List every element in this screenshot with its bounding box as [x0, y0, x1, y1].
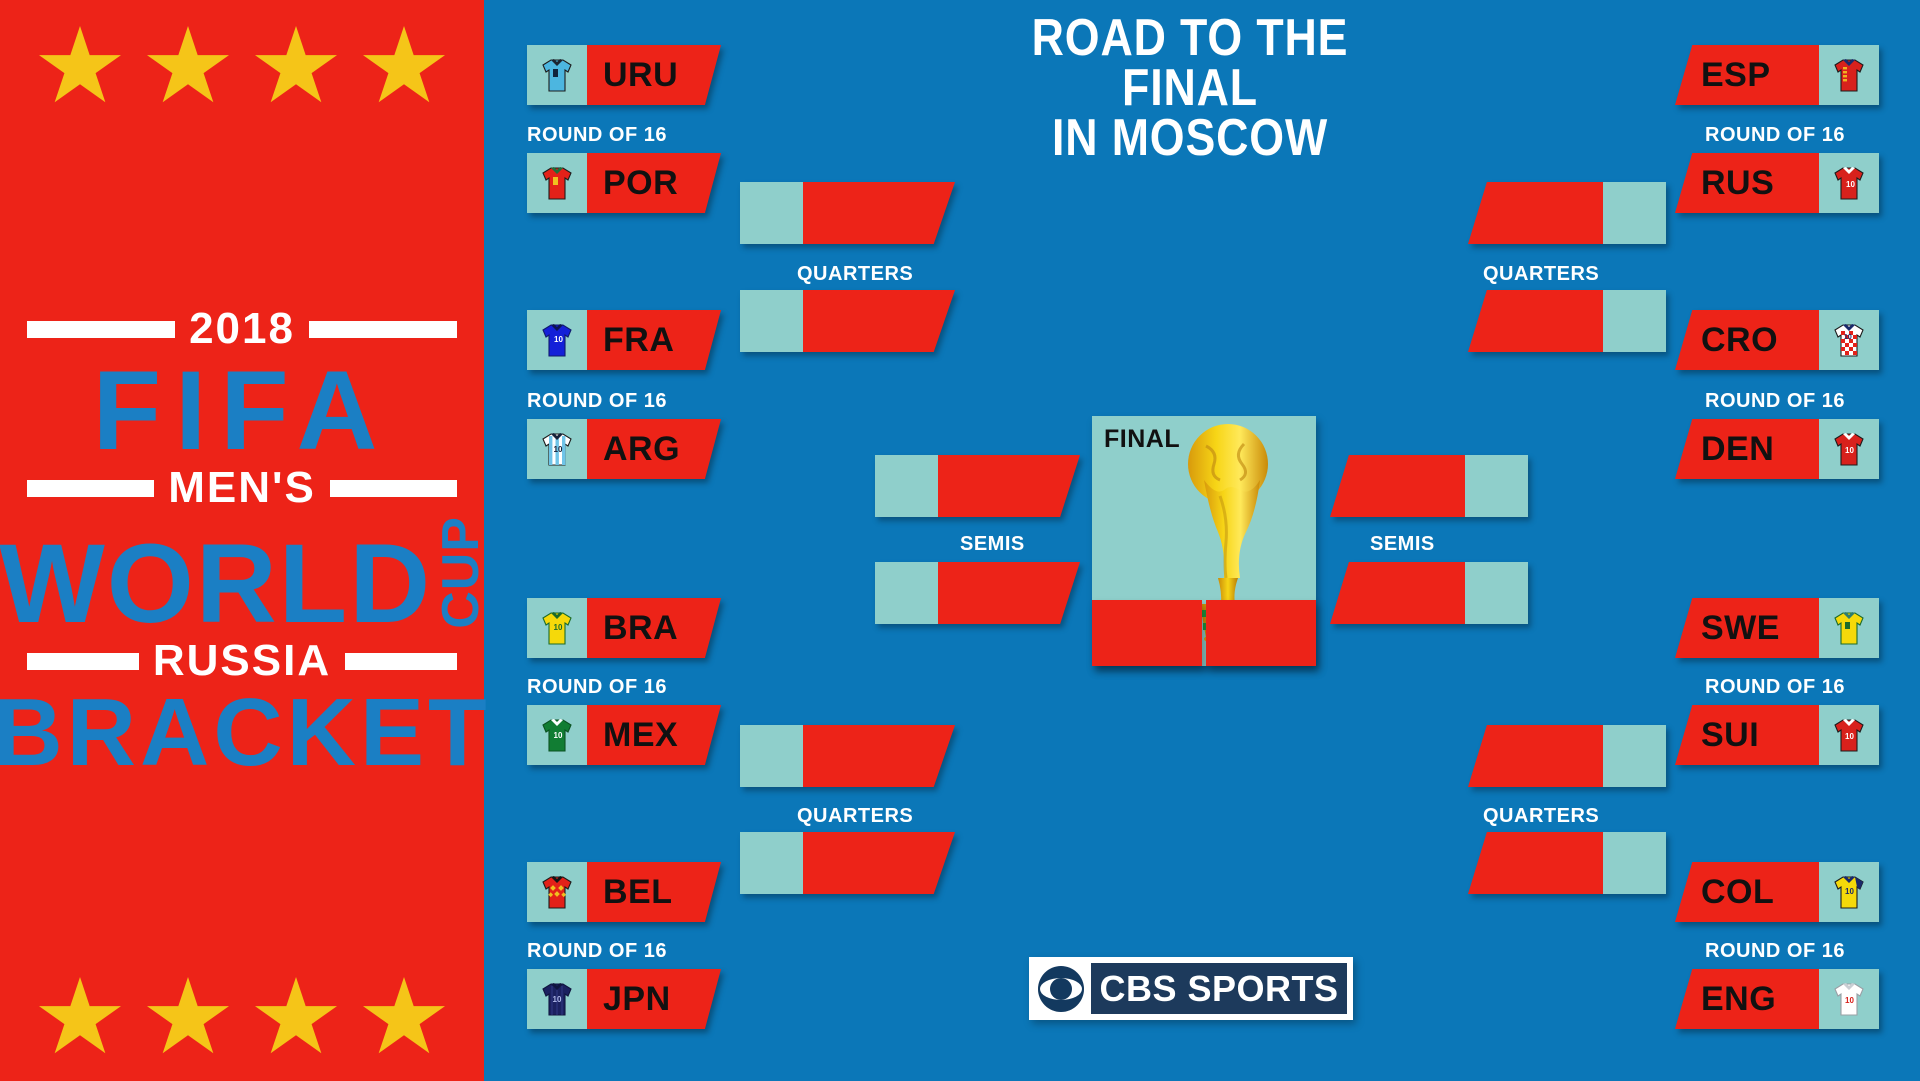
title-worldcup: WORLD CUP [0, 516, 485, 635]
svg-text:10: 10 [1844, 334, 1852, 341]
stars-bottom-row [0, 977, 484, 1059]
round-label-r16: ROUND OF 16 [527, 390, 667, 413]
quarters-slot-right-3[interactable] [1468, 725, 1666, 787]
slot-red-block [803, 725, 955, 787]
star-icon [39, 977, 121, 1059]
stage-label-semis: SEMIS [1370, 533, 1435, 556]
svg-text:10: 10 [554, 335, 563, 344]
title-year: 2018 [189, 307, 295, 351]
slot-red-block [1330, 562, 1465, 624]
svg-text:10: 10 [554, 731, 563, 740]
team-row-sui[interactable]: SUI 10 [1675, 705, 1879, 765]
slot-teal-block [1465, 455, 1528, 517]
team-name-esp: ESP [1675, 45, 1819, 105]
team-name-col: COL [1675, 862, 1819, 922]
quarters-slot-right-4[interactable] [1468, 832, 1666, 894]
slot-red-block [1330, 455, 1465, 517]
svg-text:10: 10 [1845, 887, 1854, 896]
quarters-slot-right-2[interactable] [1468, 290, 1666, 352]
sweden-jersey-icon [1819, 598, 1879, 658]
stars-top-row [0, 26, 484, 108]
semis-slot-right-2[interactable] [1330, 562, 1528, 624]
star-icon [363, 26, 445, 108]
slot-red-block [803, 290, 955, 352]
team-row-cro[interactable]: CRO 10 [1675, 310, 1879, 370]
slot-teal-block [875, 562, 938, 624]
team-row-bel[interactable]: BEL [527, 862, 721, 922]
rule-bar [309, 321, 457, 338]
team-row-den[interactable]: DEN 10 [1675, 419, 1879, 479]
round-label-r16: ROUND OF 16 [1705, 124, 1845, 147]
page-title-line2: IN MOSCOW [966, 114, 1413, 164]
semis-slot-left-1[interactable] [875, 455, 1080, 517]
team-name-uru: URU [587, 45, 721, 105]
slot-teal-block [740, 182, 803, 244]
cbs-eye-icon [1035, 963, 1087, 1015]
star-icon [363, 977, 445, 1059]
france-jersey-icon: 10 [527, 310, 587, 370]
rule-bar [27, 321, 175, 338]
team-row-por[interactable]: POR [527, 153, 721, 213]
final-slots[interactable] [1092, 600, 1316, 666]
uruguay-jersey-icon [527, 45, 587, 105]
title-cup: CUP [438, 516, 485, 629]
svg-text:10: 10 [1845, 446, 1854, 455]
slot-teal-block [1603, 832, 1666, 894]
star-icon [39, 26, 121, 108]
title-panel: 2018 FIFA MEN'S WORLD CUP RUSSIA BRACKET [0, 0, 484, 1081]
mens-rule: MEN'S [27, 466, 457, 510]
star-icon [255, 977, 337, 1059]
round-label-r16: ROUND OF 16 [1705, 940, 1845, 963]
team-row-bra[interactable]: 10 BRA [527, 598, 721, 658]
team-name-mex: MEX [587, 705, 721, 765]
svg-text:10: 10 [554, 623, 563, 632]
slot-red-block [938, 562, 1080, 624]
portugal-jersey-icon [527, 153, 587, 213]
switzerland-jersey-icon: 10 [1819, 705, 1879, 765]
team-row-esp[interactable]: ESP [1675, 45, 1879, 105]
round-label-r16: ROUND OF 16 [527, 124, 667, 147]
slot-red-block [938, 455, 1080, 517]
team-name-arg: ARG [587, 419, 721, 479]
slot-teal-block [1465, 562, 1528, 624]
slot-teal-block [1603, 182, 1666, 244]
star-icon [147, 977, 229, 1059]
england-jersey-icon: 10 [1819, 969, 1879, 1029]
round-label-r16: ROUND OF 16 [527, 940, 667, 963]
title-world: WORLD [0, 532, 432, 635]
team-name-sui: SUI [1675, 705, 1819, 765]
cbs-sports-wordmark: CBS SPORTS [1091, 963, 1347, 1014]
team-name-swe: SWE [1675, 598, 1819, 658]
slot-teal-block [740, 832, 803, 894]
spain-jersey-icon [1819, 45, 1879, 105]
team-name-cro: CRO [1675, 310, 1819, 370]
slot-teal-block [740, 725, 803, 787]
title-russia: RUSSIA [153, 639, 331, 683]
team-name-eng: ENG [1675, 969, 1819, 1029]
team-row-swe[interactable]: SWE [1675, 598, 1879, 658]
argentina-jersey-icon: 10 [527, 419, 587, 479]
rule-bar [27, 480, 154, 497]
final-slot-2[interactable] [1206, 600, 1316, 666]
mexico-jersey-icon: 10 [527, 705, 587, 765]
quarters-slot-left-1[interactable] [740, 182, 955, 244]
svg-text:10: 10 [554, 445, 563, 454]
year-rule: 2018 [27, 307, 457, 351]
slot-teal-block [1603, 725, 1666, 787]
team-row-fra[interactable]: 10 FRA [527, 310, 721, 370]
team-row-eng[interactable]: ENG 10 [1675, 969, 1879, 1029]
team-name-den: DEN [1675, 419, 1819, 479]
team-row-jpn[interactable]: 10 JPN [527, 969, 721, 1029]
stage-label-quarters: QUARTERS [797, 263, 913, 286]
title-mens: MEN'S [168, 466, 316, 510]
denmark-jersey-icon: 10 [1819, 419, 1879, 479]
quarters-slot-left-2[interactable] [740, 290, 955, 352]
title-bracket: BRACKET [0, 689, 491, 777]
round-label-r16: ROUND OF 16 [1705, 676, 1845, 699]
team-name-fra: FRA [587, 310, 721, 370]
quarters-slot-right-1[interactable] [1468, 182, 1666, 244]
stage-label-quarters: QUARTERS [797, 805, 913, 828]
slot-red-block [1468, 290, 1603, 352]
team-row-mex[interactable]: 10 MEX [527, 705, 721, 765]
quarters-slot-left-4[interactable] [740, 832, 955, 894]
slot-red-block [1468, 725, 1603, 787]
slot-teal-block [740, 290, 803, 352]
russia-rule: RUSSIA [27, 639, 457, 683]
rule-bar [330, 480, 457, 497]
team-name-por: POR [587, 153, 721, 213]
rule-bar [345, 653, 457, 670]
slot-teal-block [875, 455, 938, 517]
semis-slot-right-1[interactable] [1330, 455, 1528, 517]
rule-bar [27, 653, 139, 670]
team-name-jpn: JPN [587, 969, 721, 1029]
team-name-rus: RUS [1675, 153, 1819, 213]
slot-red-block [1468, 832, 1603, 894]
title-stack: 2018 FIFA MEN'S WORLD CUP RUSSIA BRACKET [0, 307, 484, 777]
team-row-rus[interactable]: RUS 10 [1675, 153, 1879, 213]
stage-label-semis: SEMIS [960, 533, 1025, 556]
stage-label-quarters: QUARTERS [1483, 263, 1599, 286]
page-title-line1: ROAD TO THE FINAL [966, 14, 1413, 114]
brazil-jersey-icon: 10 [527, 598, 587, 658]
star-icon [147, 26, 229, 108]
team-name-bel: BEL [587, 862, 721, 922]
semis-slot-left-2[interactable] [875, 562, 1080, 624]
russia-jersey-icon: 10 [1819, 153, 1879, 213]
final-slot-1[interactable] [1092, 600, 1202, 666]
belgium-jersey-icon [527, 862, 587, 922]
svg-text:10: 10 [1846, 180, 1855, 189]
croatia-jersey-icon: 10 [1819, 310, 1879, 370]
slot-teal-block [1603, 290, 1666, 352]
page-title: ROAD TO THE FINAL IN MOSCOW [966, 14, 1413, 164]
slot-red-block [803, 832, 955, 894]
round-label-r16: ROUND OF 16 [527, 676, 667, 699]
colombia-jersey-icon: 10 [1819, 862, 1879, 922]
title-fifa: FIFA [93, 359, 392, 462]
japan-jersey-icon: 10 [527, 969, 587, 1029]
svg-text:10: 10 [553, 995, 562, 1004]
quarters-slot-left-3[interactable] [740, 725, 955, 787]
star-icon [255, 26, 337, 108]
svg-text:10: 10 [1845, 732, 1854, 741]
team-row-uru[interactable]: URU [527, 45, 721, 105]
svg-text:10: 10 [1845, 996, 1854, 1005]
team-row-arg[interactable]: 10 ARG [527, 419, 721, 479]
round-label-r16: ROUND OF 16 [1705, 390, 1845, 413]
cbs-sports-logo: CBS SPORTS [1029, 957, 1353, 1020]
slot-red-block [803, 182, 955, 244]
slot-red-block [1468, 182, 1603, 244]
team-name-bra: BRA [587, 598, 721, 658]
stage-label-quarters: QUARTERS [1483, 805, 1599, 828]
team-row-col[interactable]: COL 10 [1675, 862, 1879, 922]
